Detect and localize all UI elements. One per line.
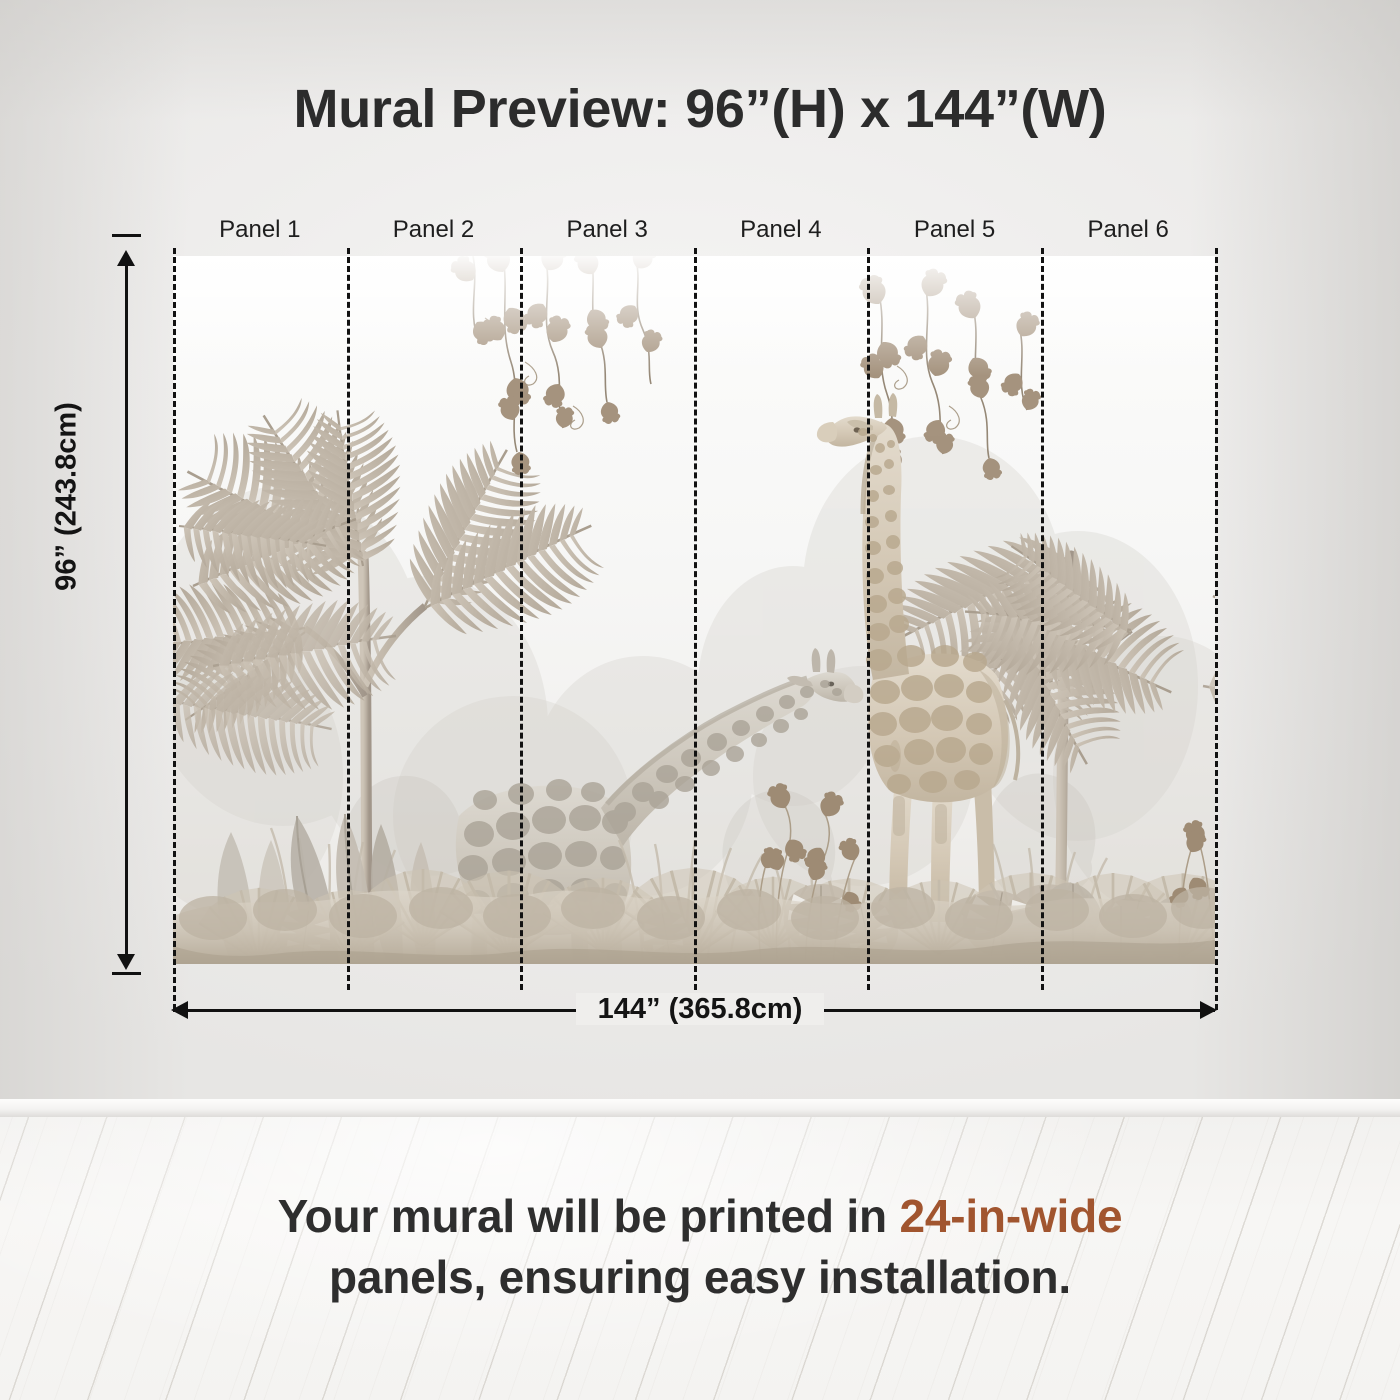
panel-label-5: Panel 5	[868, 213, 1042, 247]
panel-label-6: Panel 6	[1041, 213, 1215, 247]
panel-divider-6	[1215, 248, 1218, 1010]
panel-label-4: Panel 4	[694, 213, 868, 247]
page-title: Mural Preview: 96”(H) x 144”(W)	[0, 78, 1400, 140]
printing-caption: Your mural will be printed in 24-in-wide…	[0, 1186, 1400, 1307]
panel-divider-1	[347, 248, 350, 990]
width-dimension-text: 144” (365.8cm)	[576, 993, 825, 1025]
height-tick-bottom	[112, 972, 141, 975]
height-dimension-line	[125, 256, 128, 964]
caption-line-2: panels, ensuring easy installation.	[0, 1247, 1400, 1308]
panel-divider-2	[520, 248, 523, 990]
caption-line-1-text: Your mural will be printed in	[278, 1190, 900, 1242]
caption-line-1: Your mural will be printed in 24-in-wide	[0, 1186, 1400, 1247]
panel-label-3: Panel 3	[520, 213, 694, 247]
height-tick-top	[112, 234, 141, 237]
panel-label-1: Panel 1	[173, 213, 347, 247]
baseboard	[0, 1099, 1400, 1117]
width-dimension-label: 144” (365.8cm)	[0, 993, 1400, 1026]
height-arrow-down	[117, 954, 135, 970]
mural-preview-scene: Mural Preview: 96”(H) x 144”(W) Panel 1 …	[0, 0, 1400, 1400]
height-dimension-label: 96” (243.8cm)	[51, 367, 84, 627]
panel-label-row: Panel 1 Panel 2 Panel 3 Panel 4 Panel 5 …	[173, 213, 1215, 247]
wall-shadow-right	[1190, 0, 1400, 1115]
caption-accent-text: 24-in-wide	[899, 1190, 1122, 1242]
panel-divider-5	[1041, 248, 1044, 990]
wall-shadow-left	[0, 0, 190, 1115]
panel-divider-3	[694, 248, 697, 990]
panel-divider-4	[867, 248, 870, 990]
panel-label-2: Panel 2	[347, 213, 521, 247]
panel-divider-0	[173, 248, 176, 1010]
